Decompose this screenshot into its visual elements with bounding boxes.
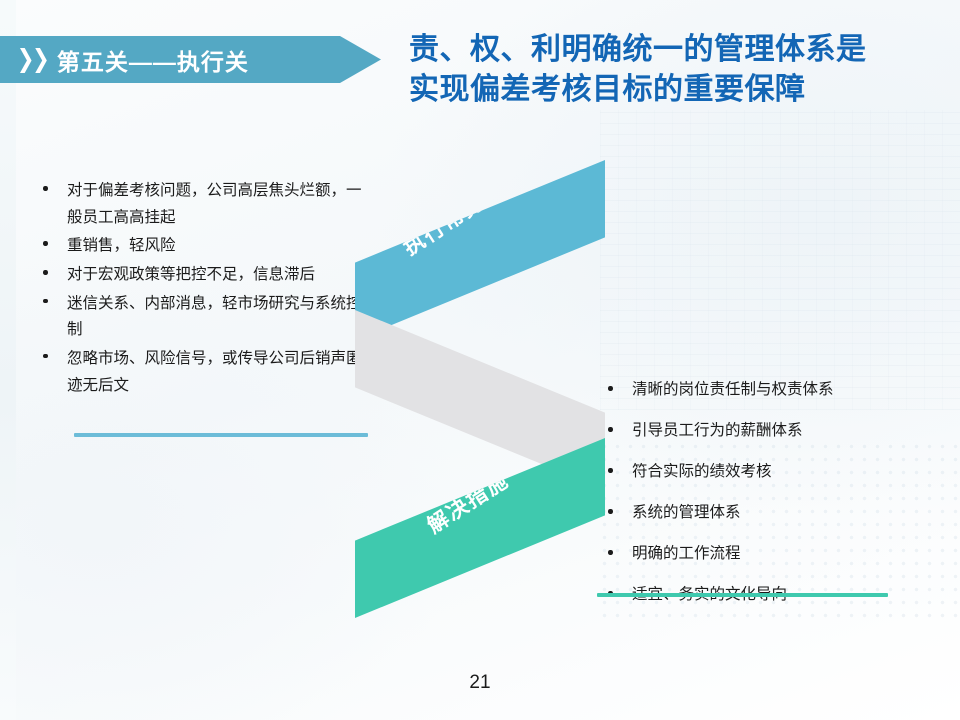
section-banner: ❯❯ 第五关——执行关 [0, 36, 381, 83]
list-item: 迷信关系、内部消息，轻市场研究与系统控制 [35, 291, 375, 344]
band-problems-label: 执行常见问题 [397, 161, 529, 261]
zigzag-diagram: 执行常见问题 解决措施 [355, 160, 615, 620]
list-item: 对于偏差考核问题，公司高层焦头烂额，一般员工高高挂起 [35, 178, 375, 231]
list-item: 符合实际的绩效考核 [600, 460, 910, 484]
measures-list: 清晰的岗位责任制与权责体系 引导员工行为的薪酬体系 符合实际的绩效考核 系统的管… [600, 378, 910, 624]
list-item: 对于宏观政策等把控不足，信息滞后 [35, 262, 375, 289]
problems-underline [74, 433, 368, 437]
list-item: 重销售，轻风险 [35, 233, 375, 260]
slide: ❯❯ 第五关——执行关 责、权、利明确统一的管理体系是实现偏差考核目标的重要保障… [0, 0, 960, 720]
background-left-stripe [0, 0, 16, 720]
double-chevron-right-icon: ❯❯ [17, 47, 48, 72]
list-item: 明确的工作流程 [600, 542, 910, 566]
list-item: 清晰的岗位责任制与权责体系 [600, 378, 910, 402]
problems-list: 对于偏差考核问题，公司高层焦头烂额，一般员工高高挂起 重销售，轻风险 对于宏观政… [35, 178, 375, 401]
list-item: 引导员工行为的薪酬体系 [600, 419, 910, 443]
band-problems: 执行常见问题 [355, 160, 605, 340]
list-item: 忽略市场、风险信号，或传导公司后销声匿迹无后文 [35, 346, 375, 399]
measures-underline [597, 593, 888, 597]
band-measures-label: 解决措施 [421, 464, 514, 539]
band-measures: 解决措施 [355, 438, 605, 618]
list-item: 系统的管理体系 [600, 501, 910, 525]
section-banner-label: 第五关——执行关 [57, 43, 249, 77]
page-title: 责、权、利明确统一的管理体系是实现偏差考核目标的重要保障 [409, 30, 879, 109]
page-number: 21 [0, 672, 960, 694]
background-texture [600, 110, 960, 410]
